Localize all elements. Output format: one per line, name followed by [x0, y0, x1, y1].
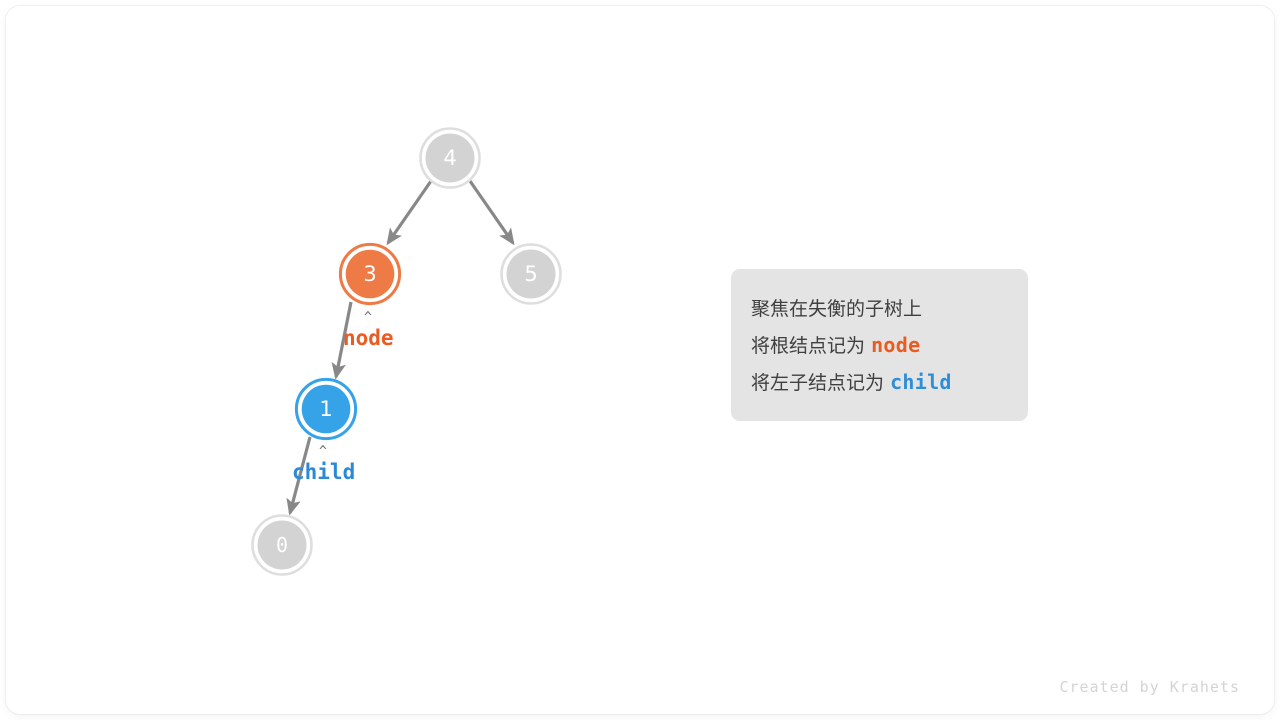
watermark-credit: Created by Krahets	[1059, 678, 1240, 696]
tree-node-5[interactable]: 5	[502, 245, 561, 304]
explanation-line-3: 将左子结点记为 child	[751, 364, 1004, 401]
figure-canvas: 4 5 0 3	[0, 0, 1280, 720]
tree-node-3-value: 3	[363, 262, 376, 286]
tree-node-4-value: 4	[443, 146, 456, 170]
edge-4-to-5	[470, 181, 513, 243]
tree-node-1-highlighted[interactable]: 1	[296, 379, 355, 438]
explanation-line-1-text: 聚焦在失衡的子树上	[751, 298, 922, 320]
edge-4-to-3	[388, 181, 431, 243]
explanation-line-1: 聚焦在失衡的子树上	[751, 291, 1004, 327]
tree-node-3-highlighted[interactable]: 3	[340, 244, 399, 303]
child-pointer-caret-icon: ^	[319, 444, 327, 459]
node-pointer-caret-icon: ^	[364, 310, 372, 325]
explanation-panel: 聚焦在失衡的子树上 将根结点记为 node 将左子结点记为 child	[731, 269, 1028, 421]
explanation-line-2: 将根结点记为 node	[751, 327, 1004, 364]
child-pointer-label: child	[292, 460, 355, 484]
explanation-line-3-prefix: 将左子结点记为	[751, 372, 884, 394]
tree-nodes: 4 5 0 3	[253, 129, 561, 575]
tree-node-5-value: 5	[524, 262, 537, 286]
explanation-line-2-prefix: 将根结点记为	[751, 335, 865, 357]
tree-node-0[interactable]: 0	[253, 516, 312, 575]
tree-node-4[interactable]: 4	[421, 129, 480, 188]
tree-node-0-value: 0	[276, 533, 288, 557]
explanation-keyword-node: node	[871, 333, 920, 357]
tree-node-1-value: 1	[319, 397, 332, 421]
node-pointer-label: node	[343, 326, 394, 350]
binary-tree-diagram: 4 5 0 3	[0, 0, 1280, 720]
explanation-keyword-child: child	[890, 370, 952, 394]
